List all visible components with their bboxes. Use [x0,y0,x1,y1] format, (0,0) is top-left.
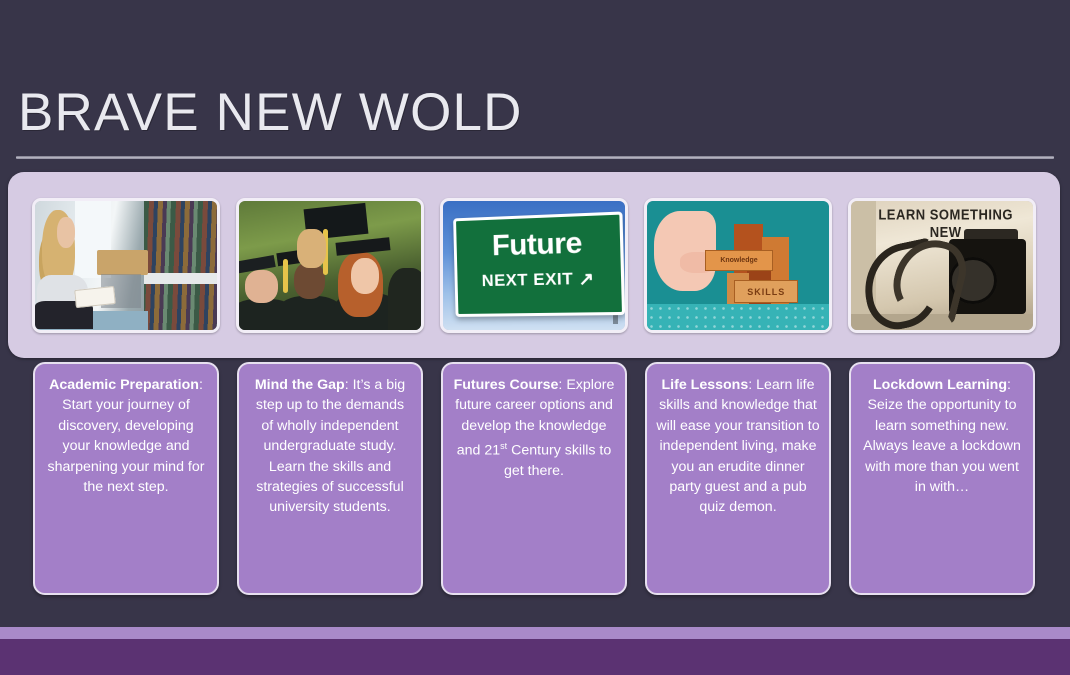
card-separator: : [345,377,353,393]
footer-accent-stripe [0,627,1070,639]
sign-primary-text: Future [456,224,620,263]
blocks-illustration-art: Knowledge SKILLS [647,201,829,330]
knowledge-skills-blocks-photo[interactable]: Knowledge SKILLS [644,198,832,333]
sign-secondary-text: NEXT EXIT [482,268,574,289]
future-road-sign-photo[interactable]: Future NEXT EXIT ↗ [440,198,628,333]
up-right-arrow-icon: ↗ [578,268,595,290]
card-lockdown-learning[interactable]: Lockdown Learning: Seize the opportunity… [849,362,1035,595]
card-heading: Futures Course [454,377,559,393]
graduates-photo[interactable] [236,198,424,333]
photo-panel: Future NEXT EXIT ↗ [8,172,1060,358]
footer-band [0,639,1070,675]
card-heading: Mind the Gap [255,377,345,393]
photo-caption: LEARN SOMETHING NEW [866,206,1026,241]
title-divider [16,156,1054,159]
card-life-lessons[interactable]: Life Lessons: Learn life skills and know… [645,362,831,595]
card-body-part2: Century skills to get there. [504,443,611,479]
card-separator: : [748,377,756,393]
card-heading: Lockdown Learning [873,377,1007,393]
photo-strip: Future NEXT EXIT ↗ [8,172,1060,358]
road-sign-art: Future NEXT EXIT ↗ [443,201,625,330]
presentation-slide: BRAVE NEW WOLD [0,0,1070,675]
learn-something-new-photo[interactable]: LEARN SOMETHING NEW [848,198,1036,333]
card-heading: Life Lessons [662,377,749,393]
card-body: Learn life skills and knowledge that wil… [656,377,819,515]
card-body: It’s a big step up to the demands of who… [256,377,405,515]
card-separator: : [1007,377,1011,393]
page-title: BRAVE NEW WOLD [18,82,523,143]
card-heading: Academic Preparation [49,377,199,393]
card-body: Start your journey of discovery, develop… [48,397,205,495]
card-row: Academic Preparation: Start your journey… [8,362,1060,597]
library-scene-art [35,201,217,330]
camera-scene-art: LEARN SOMETHING NEW [851,201,1033,330]
library-study-photo[interactable] [32,198,220,333]
skills-block-label: SKILLS [734,280,798,303]
card-separator: : [199,377,203,393]
graduates-scene-art [239,201,421,330]
card-academic-preparation[interactable]: Academic Preparation: Start your journey… [33,362,219,595]
card-mind-the-gap[interactable]: Mind the Gap: It’s a big step up to the … [237,362,423,595]
knowledge-block-label: Knowledge [705,250,773,271]
card-body: Seize the opportunity to learn something… [863,397,1021,495]
card-futures-course[interactable]: Futures Course: Explore future career op… [441,362,627,595]
